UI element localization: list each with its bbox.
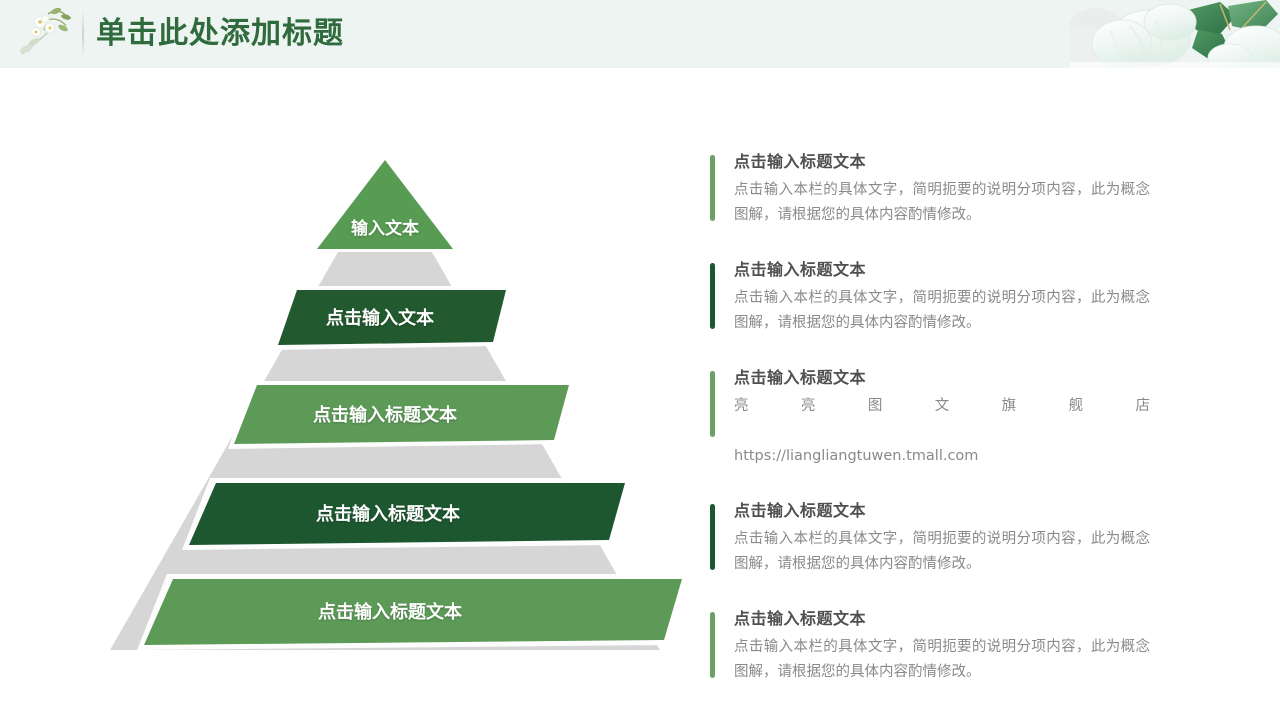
list-item-title: 点击输入标题文本	[734, 499, 1150, 523]
pyramid-level-1-shape	[305, 150, 465, 260]
list-item-title: 点击输入标题文本	[734, 607, 1150, 631]
pyramid-level-1[interactable]: 输入文本	[305, 150, 465, 260]
accent-bar	[710, 263, 715, 329]
pyramid-level-2-label: 点击输入文本	[326, 304, 434, 330]
list-item-body: 点击输入本栏的具体文字，简明扼要的说明分项内容，此为概念图解，请根据您的具体内容…	[734, 286, 1150, 336]
shop-url-text[interactable]: https://liangliangtuwen.tmall.com	[734, 444, 1150, 469]
list-item[interactable]: 点击输入标题文本 点击输入本栏的具体文字，简明扼要的说明分项内容，此为概念图解，…	[710, 150, 1150, 228]
detail-list: 点击输入标题文本 点击输入本栏的具体文字，简明扼要的说明分项内容，此为概念图解，…	[710, 150, 1150, 685]
list-item[interactable]: 点击输入标题文本 点击输入本栏的具体文字，简明扼要的说明分项内容，此为概念图解，…	[710, 499, 1150, 577]
pyramid-level-4-label: 点击输入标题文本	[316, 500, 460, 526]
accent-bar	[710, 155, 715, 221]
slide-header: 单击此处添加标题	[0, 0, 1280, 68]
list-item[interactable]: 点击输入标题文本 亮亮图文旗舰店 https://liangliangtuwen…	[710, 366, 1150, 469]
pyramid-level-3-label: 点击输入标题文本	[313, 401, 457, 427]
list-item-title: 点击输入标题文本	[734, 258, 1150, 282]
floral-sprig-icon	[14, 2, 80, 64]
accent-bar	[710, 504, 715, 570]
list-item-title: 点击输入标题文本	[734, 366, 1150, 390]
header-divider	[82, 10, 84, 58]
pyramid-level-5[interactable]: 点击输入标题文本	[85, 571, 695, 653]
accent-bar	[710, 371, 715, 437]
list-item-title: 点击输入标题文本	[734, 150, 1150, 174]
pyramid-level-3[interactable]: 点击输入标题文本	[190, 378, 580, 452]
page-title: 单击此处添加标题	[96, 14, 344, 54]
magnolia-flower-image	[1070, 0, 1280, 68]
list-item[interactable]: 点击输入标题文本 点击输入本栏的具体文字，简明扼要的说明分项内容，此为概念图解，…	[710, 258, 1150, 336]
pyramid-level-4[interactable]: 点击输入标题文本	[138, 475, 638, 553]
pyramid-level-1-label: 输入文本	[351, 214, 419, 239]
accent-bar	[710, 612, 715, 678]
list-item[interactable]: 点击输入标题文本 点击输入本栏的具体文字，简明扼要的说明分项内容，此为概念图解，…	[710, 607, 1150, 685]
list-item-body: 亮亮图文旗舰店 https://liangliangtuwen.tmall.co…	[734, 394, 1150, 469]
pyramid-diagram: 输入文本 点击输入文本 点击输入标题文本 点击输入标题文本 点击输入标题文本	[60, 130, 700, 670]
pyramid-level-5-label: 点击输入标题文本	[318, 598, 462, 624]
list-item-body: 点击输入本栏的具体文字，简明扼要的说明分项内容，此为概念图解，请根据您的具体内容…	[734, 635, 1150, 685]
list-item-body: 点击输入本栏的具体文字，简明扼要的说明分项内容，此为概念图解，请根据您的具体内容…	[734, 527, 1150, 577]
pyramid-level-2[interactable]: 点击输入文本	[245, 283, 515, 353]
shop-name-text: 亮亮图文旗舰店	[734, 394, 1150, 444]
list-item-body: 点击输入本栏的具体文字，简明扼要的说明分项内容，此为概念图解，请根据您的具体内容…	[734, 178, 1150, 228]
